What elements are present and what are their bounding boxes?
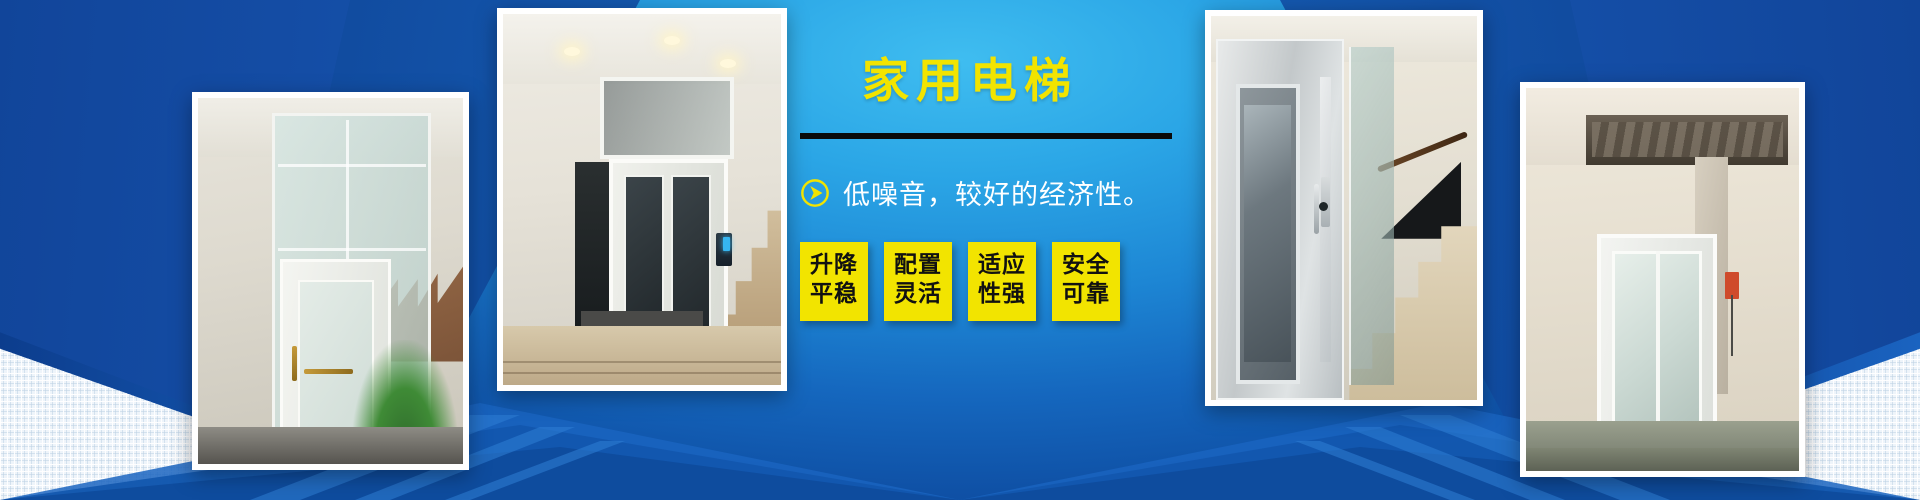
feature-badge-line2: 灵活 xyxy=(884,280,952,309)
photo-stainless-elevator-beside-staircase xyxy=(1205,10,1483,406)
title-underline-rule xyxy=(800,133,1172,139)
feature-badge-line1: 安全 xyxy=(1052,251,1120,280)
banner-subtitle-row: 低噪音，较好的经济性。 xyxy=(800,173,1220,212)
banner-text-block: 家用电梯 低噪音，较好的经济性。 升降 平稳 配置 灵活 适应 性强 xyxy=(800,58,1220,321)
circle-play-arrow-icon xyxy=(800,178,830,208)
feature-badge-line2: 平稳 xyxy=(800,280,868,309)
photo-elevator-shaft-under-construction xyxy=(1520,82,1805,477)
photo-glass-shaft-elevator-with-plant xyxy=(192,92,469,470)
feature-badge: 适应 性强 xyxy=(968,242,1036,321)
feature-badge-line2: 可靠 xyxy=(1052,280,1120,309)
photo-hallway-elevator-with-stairs xyxy=(497,8,787,391)
feature-badge-line1: 升降 xyxy=(800,251,868,280)
banner-subtitle: 低噪音，较好的经济性。 xyxy=(843,173,1151,212)
feature-badge: 升降 平稳 xyxy=(800,242,868,321)
banner-title: 家用电梯 xyxy=(862,58,1220,105)
home-elevator-banner: 家用电梯 低噪音，较好的经济性。 升降 平稳 配置 灵活 适应 性强 xyxy=(0,0,1920,500)
feature-badge-list: 升降 平稳 配置 灵活 适应 性强 安全 可靠 xyxy=(800,242,1220,321)
feature-badge: 安全 可靠 xyxy=(1052,242,1120,321)
feature-badge-line2: 性强 xyxy=(968,280,1036,309)
feature-badge: 配置 灵活 xyxy=(884,242,952,321)
feature-badge-line1: 配置 xyxy=(884,251,952,280)
feature-badge-line1: 适应 xyxy=(968,251,1036,280)
